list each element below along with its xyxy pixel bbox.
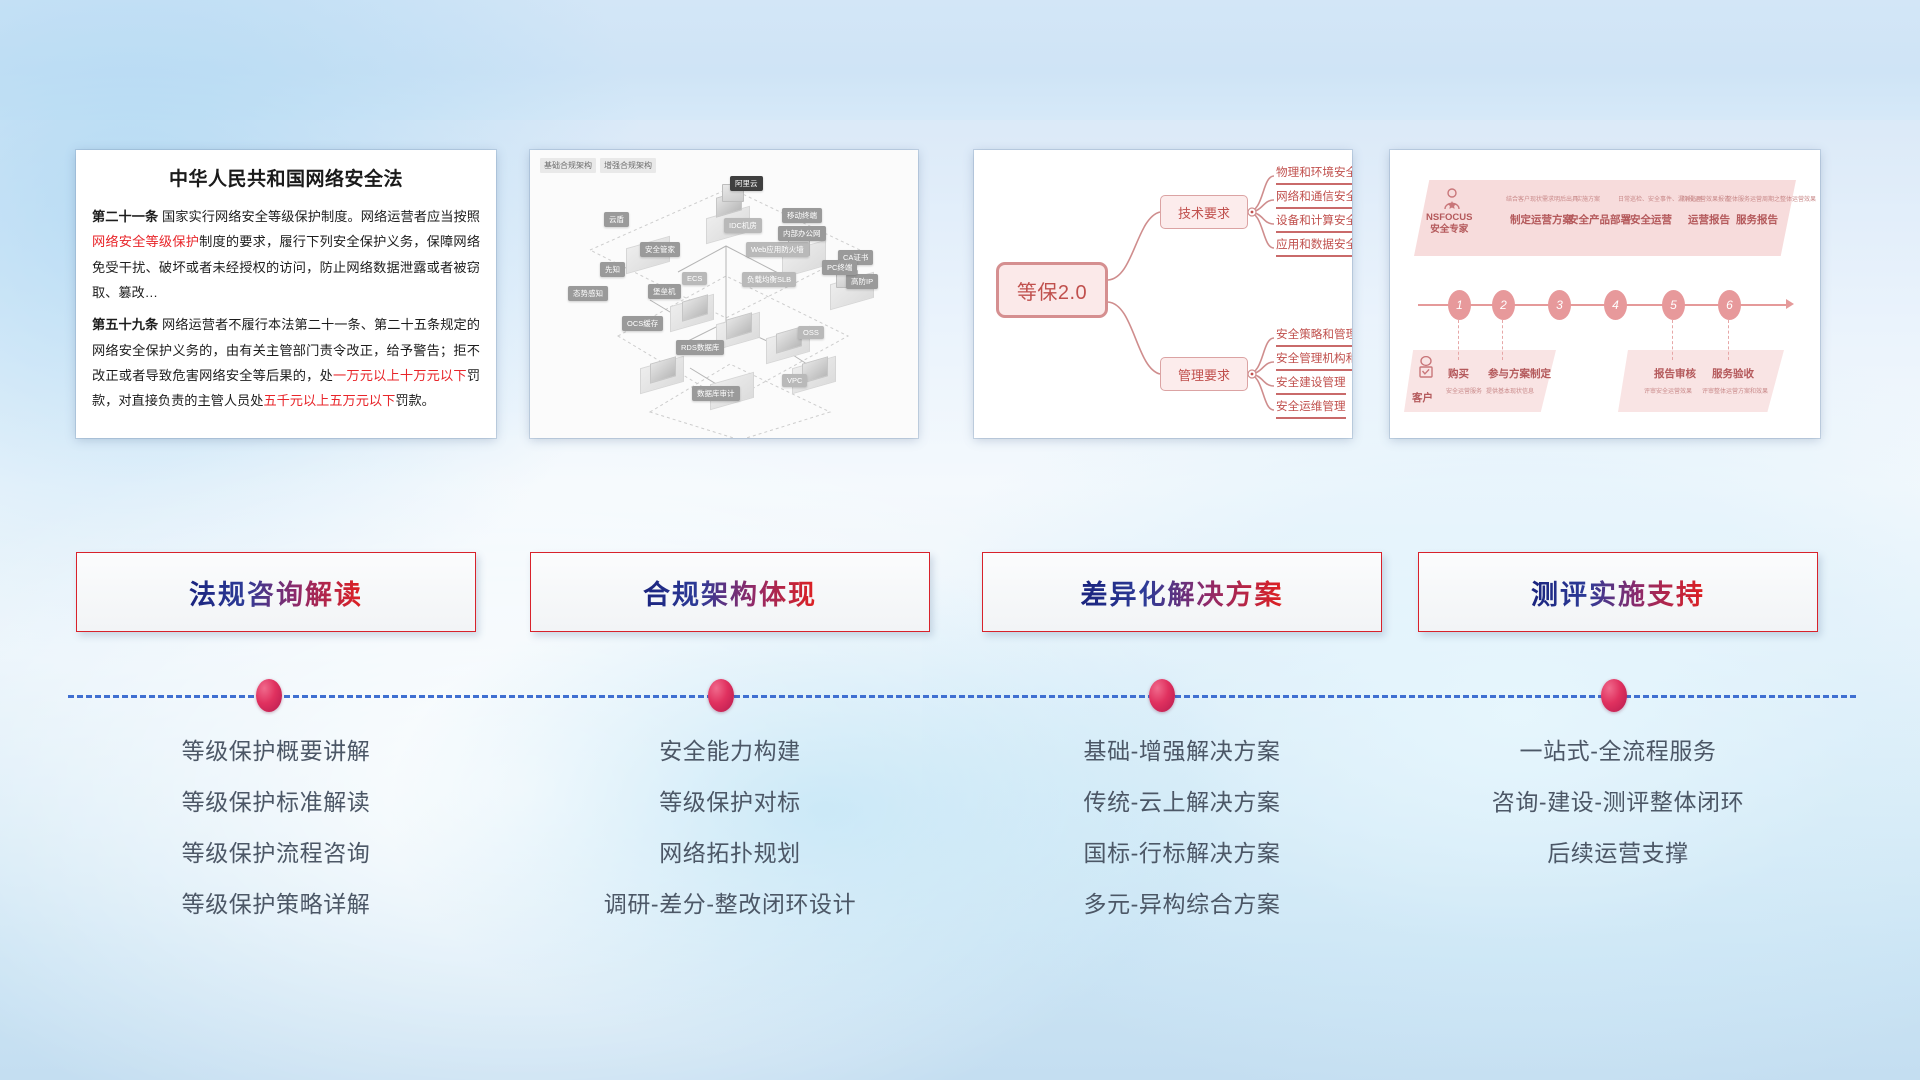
law-run-2-5: 罚款。 xyxy=(395,393,435,408)
mindmap-leaf: 设备和计算安全 xyxy=(1276,212,1352,233)
list-item: 后续运营支撑 xyxy=(1418,842,1818,865)
timeline-marker-dot-1 xyxy=(256,679,282,712)
architecture-node-label: 态势感知 xyxy=(568,286,608,301)
architecture-node-label: 数据库审计 xyxy=(692,386,740,401)
architecture-node-label: 移动终端 xyxy=(782,208,822,223)
timeline-top-label: 服务报告 xyxy=(1736,212,1778,227)
timeline-bottom-sub: 评审整体运营方案和效果 xyxy=(1702,386,1768,395)
architecture-card: 基础合规架构 增强合规架构 xyxy=(530,150,918,438)
architecture-node-label: 内部办公网 xyxy=(778,226,826,241)
mindmap-branch-technical: 技术要求 xyxy=(1160,195,1248,229)
security-expert-icon xyxy=(1442,188,1462,210)
timeline-bottom-sub: 评审安全运营效果 xyxy=(1644,386,1692,395)
architecture-node-label: OCS缓存 xyxy=(622,316,663,331)
law-article-label-1: 第二十一条 xyxy=(92,209,158,224)
mindmap-leaf: 应用和数据安全 xyxy=(1276,236,1352,257)
timeline-top-sub: 整体服务运营周期之整体运营效果 xyxy=(1726,194,1816,203)
timeline-top-label: 安全产品部署 xyxy=(1568,212,1631,227)
timeline-bottom-label: 参与方案制定 xyxy=(1488,366,1551,381)
mindmap: 等保2.0 技术要求 管理要求 物理和环境安全 网络和通信安全 设备和计算安全 … xyxy=(974,150,1352,438)
timeline-bottom-sub: 安全运营服务 xyxy=(1446,386,1482,395)
timeline-connector xyxy=(1502,320,1503,360)
mindmap-leaf: 物理和环境安全 xyxy=(1276,164,1352,185)
detail-list-4: 一站式-全流程服务 咨询-建设-测评整体闭环 后续运营支撑 xyxy=(1418,740,1818,893)
architecture-node-label: 堡垒机 xyxy=(648,284,681,299)
timeline-step-number: 1 xyxy=(1448,290,1471,320)
timeline-bottom-sub: 提供基本现状信息 xyxy=(1486,386,1534,395)
timeline-bottom-label: 报告审核 xyxy=(1654,366,1696,381)
section-title-label-3: 差异化解决方案 xyxy=(1081,573,1284,612)
mindmap-root-node: 等保2.0 xyxy=(996,262,1108,318)
mindmap-leaf: 安全建设管理 xyxy=(1276,374,1346,395)
timeline-axis-arrow xyxy=(1786,299,1794,309)
list-item: 等级保护流程咨询 xyxy=(76,842,476,865)
timeline-step-number: 6 xyxy=(1718,290,1741,320)
section-title-label-1: 法规咨询解读 xyxy=(189,573,363,612)
timeline-step-number: 2 xyxy=(1492,290,1515,320)
timeline-top-label: 安全运营 xyxy=(1630,212,1672,227)
timeline-marker-dot-2 xyxy=(708,679,734,712)
law-card-heading: 中华人民共和国网络安全法 xyxy=(92,164,480,191)
architecture-node-label: 先知 xyxy=(600,262,625,277)
list-item: 调研-差分-整改闭环设计 xyxy=(530,893,930,916)
timeline-step-number: 3 xyxy=(1548,290,1571,320)
law-paragraph-1: 第二十一条 国家实行网络安全等级保护制度。网络运营者应当按照网络安全等级保护制度… xyxy=(92,204,480,305)
section-title-box-1[interactable]: 法规咨询解读 xyxy=(76,552,476,632)
timeline-step-number: 5 xyxy=(1662,290,1685,320)
section-title-label-4: 测评实施支持 xyxy=(1531,573,1705,612)
timeline-bottom-band-right xyxy=(1618,350,1784,412)
list-item: 咨询-建设-测评整体闭环 xyxy=(1418,791,1818,814)
card-row: 中华人民共和国网络安全法 第二十一条 国家实行网络安全等级保护制度。网络运营者应… xyxy=(0,150,1920,445)
list-item: 等级保护策略详解 xyxy=(76,893,476,916)
list-item: 等级保护概要讲解 xyxy=(76,740,476,763)
architecture-node-label: 云盾 xyxy=(604,212,629,227)
architecture-node-label: IDC机房 xyxy=(724,218,762,233)
timeline-bottom-label: 服务验收 xyxy=(1712,366,1754,381)
timeline-top-sub: 阶段运营效果报告 xyxy=(1682,194,1730,203)
list-item: 多元-异构综合方案 xyxy=(982,893,1382,916)
law-article-label-2: 第五十九条 xyxy=(92,317,158,332)
timeline-bottom-label: 购买 xyxy=(1448,366,1469,381)
section-title-box-4[interactable]: 测评实施支持 xyxy=(1418,552,1818,632)
law-run-2-4-highlight: 五千元以上五万元以下 xyxy=(263,393,395,408)
timeline-brand-role: 安全专家 xyxy=(1426,224,1472,236)
law-card-body: 中华人民共和国网络安全法 第二十一条 国家实行网络安全等级保护制度。网络运营者应… xyxy=(76,150,496,431)
section-title-row: 法规咨询解读 合规架构体现 差异化解决方案 测评实施支持 xyxy=(0,552,1920,644)
timeline-marker-dot-3 xyxy=(1149,679,1175,712)
architecture-node-label: 安全管家 xyxy=(640,242,680,257)
client-icon xyxy=(1416,356,1436,380)
mindmap-leaf: 网络和通信安全 xyxy=(1276,188,1352,209)
architecture-diagram: 基础合规架构 增强合规架构 xyxy=(530,150,918,438)
architecture-node-label: RDS数据库 xyxy=(676,340,724,355)
architecture-node-label: 负载均衡SLB xyxy=(742,272,796,287)
mindmap-leaf: 安全运维管理 xyxy=(1276,398,1346,419)
timeline-brand-name: NSFOCUS xyxy=(1426,212,1472,224)
mindmap-leaf: 安全管理机构和人员 xyxy=(1276,350,1352,371)
list-item: 一站式-全流程服务 xyxy=(1418,740,1818,763)
list-item: 等级保护标准解读 xyxy=(76,791,476,814)
mindmap-branch-management: 管理要求 xyxy=(1160,357,1248,391)
timeline-top-sub: 结合客户现状需求明后出具 xyxy=(1506,194,1578,203)
architecture-node-label: OSS xyxy=(798,326,824,339)
section-title-box-3[interactable]: 差异化解决方案 xyxy=(982,552,1382,632)
mindmap-leaf: 安全策略和管理制度 xyxy=(1276,326,1352,347)
timeline-top-sub: 实施方案 xyxy=(1576,194,1600,203)
architecture-node-label: ECS xyxy=(682,272,707,285)
timeline-top-label: 运营报告 xyxy=(1688,212,1730,227)
list-item: 安全能力构建 xyxy=(530,740,930,763)
architecture-node-label: 阿里云 xyxy=(730,176,763,191)
detail-list-1: 等级保护概要讲解 等级保护标准解读 等级保护流程咨询 等级保护策略详解 xyxy=(76,740,476,944)
list-item: 网络拓扑规划 xyxy=(530,842,930,865)
section-title-box-2[interactable]: 合规架构体现 xyxy=(530,552,930,632)
timeline-card: NSFOCUS 安全专家 结合客户现状需求明后出具 制定运营方案 实施方案 安全… xyxy=(1390,150,1820,438)
architecture-node-label: VPC xyxy=(782,374,807,387)
list-item: 国标-行标解决方案 xyxy=(982,842,1382,865)
timeline-top-label: 制定运营方案 xyxy=(1510,212,1573,227)
detail-list-3: 基础-增强解决方案 传统-云上解决方案 国标-行标解决方案 多元-异构综合方案 xyxy=(982,740,1382,944)
architecture-node-label: Web应用防火墙 xyxy=(746,242,809,257)
mindmap-card: 等保2.0 技术要求 管理要求 物理和环境安全 网络和通信安全 设备和计算安全 … xyxy=(974,150,1352,438)
service-timeline: NSFOCUS 安全专家 结合客户现状需求明后出具 制定运营方案 实施方案 安全… xyxy=(1390,150,1820,438)
law-run-2-2-highlight: 一万元以上十万元以下 xyxy=(333,368,467,383)
timeline-marker-dot-4 xyxy=(1601,679,1627,712)
architecture-node-label: PC终端 xyxy=(822,260,857,275)
detail-list-2: 安全能力构建 等级保护对标 网络拓扑规划 调研-差分-整改闭环设计 xyxy=(530,740,930,944)
timeline-brand: NSFOCUS 安全专家 xyxy=(1426,212,1472,236)
timeline-dashed-line xyxy=(68,695,1856,698)
timeline-client-label: 客户 xyxy=(1412,390,1433,405)
architecture-node-label: 高防IP xyxy=(846,274,878,289)
timeline-step-number: 4 xyxy=(1604,290,1627,320)
law-card: 中华人民共和国网络安全法 第二十一条 国家实行网络安全等级保护制度。网络运营者应… xyxy=(76,150,496,438)
law-run-1-1: 国家实行网络安全等级保护制度。网络运营者应当按照 xyxy=(158,209,480,224)
section-title-label-2: 合规架构体现 xyxy=(643,573,817,612)
timeline-connector xyxy=(1458,320,1459,360)
list-item: 等级保护对标 xyxy=(530,791,930,814)
timeline-connector xyxy=(1672,320,1673,360)
law-paragraph-2: 第五十九条 网络运营者不履行本法第二十一条、第二十五条规定的网络安全保护义务的，… xyxy=(92,312,480,413)
list-item: 传统-云上解决方案 xyxy=(982,791,1382,814)
law-run-1-2-highlight: 网络安全等级保护 xyxy=(92,234,199,249)
list-item: 基础-增强解决方案 xyxy=(982,740,1382,763)
timeline-connector xyxy=(1728,320,1729,360)
